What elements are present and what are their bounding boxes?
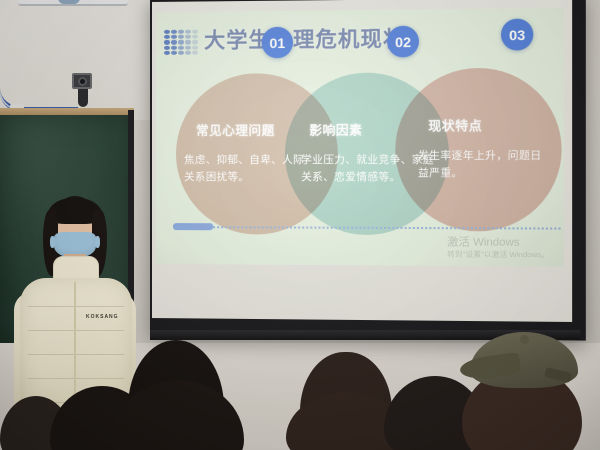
presentation-slide: 大学生心理危机现状 常见心理问题 焦虑、抑郁、自卑、人际关系困扰等。 影响因素 …	[156, 8, 564, 266]
audience-cap-button	[520, 335, 529, 344]
watermark-title: 激活 Windows	[447, 236, 549, 250]
topic-3-number-badge: 03	[501, 19, 533, 51]
classroom-scene: 大学生心理危机现状 常见心理问题 焦虑、抑郁、自卑、人际关系困扰等。 影响因素 …	[0, 0, 600, 450]
topic-3-heading: 现状特点	[428, 115, 482, 134]
slide-title: 大学生心理危机现状	[204, 23, 406, 55]
topic-1-heading: 常见心理问题	[196, 120, 275, 139]
topic-2-number-badge: 02	[387, 26, 419, 58]
camera-lens-icon	[78, 77, 87, 86]
topic-1-body: 焦虑、抑郁、自卑、人际关系困扰等。	[184, 152, 307, 187]
projection-screen: 大学生心理危机现状 常见心理问题 焦虑、抑郁、自卑、人际关系困扰等。 影响因素 …	[150, 0, 586, 341]
topic-3-body: 发生率逐年上升，问题日益严重。	[418, 148, 545, 183]
slide-progress-fill	[173, 223, 213, 230]
screen-surface: 大学生心理危机现状 常见心理问题 焦虑、抑郁、自卑、人际关系困扰等。 影响因素 …	[152, 0, 572, 322]
watermark-subtitle: 转到"设置"以激活 Windows。	[447, 250, 549, 261]
topic-2-heading: 影响因素	[309, 119, 362, 138]
dot-grid-decoration	[164, 30, 198, 55]
windows-activation-watermark: 激活 Windows 转到"设置"以激活 Windows。	[447, 236, 549, 260]
presenter-jacket-logo: KOKSANG	[86, 314, 119, 320]
camera-mount	[78, 89, 88, 107]
topic-1-number-badge: 01	[262, 27, 293, 58]
